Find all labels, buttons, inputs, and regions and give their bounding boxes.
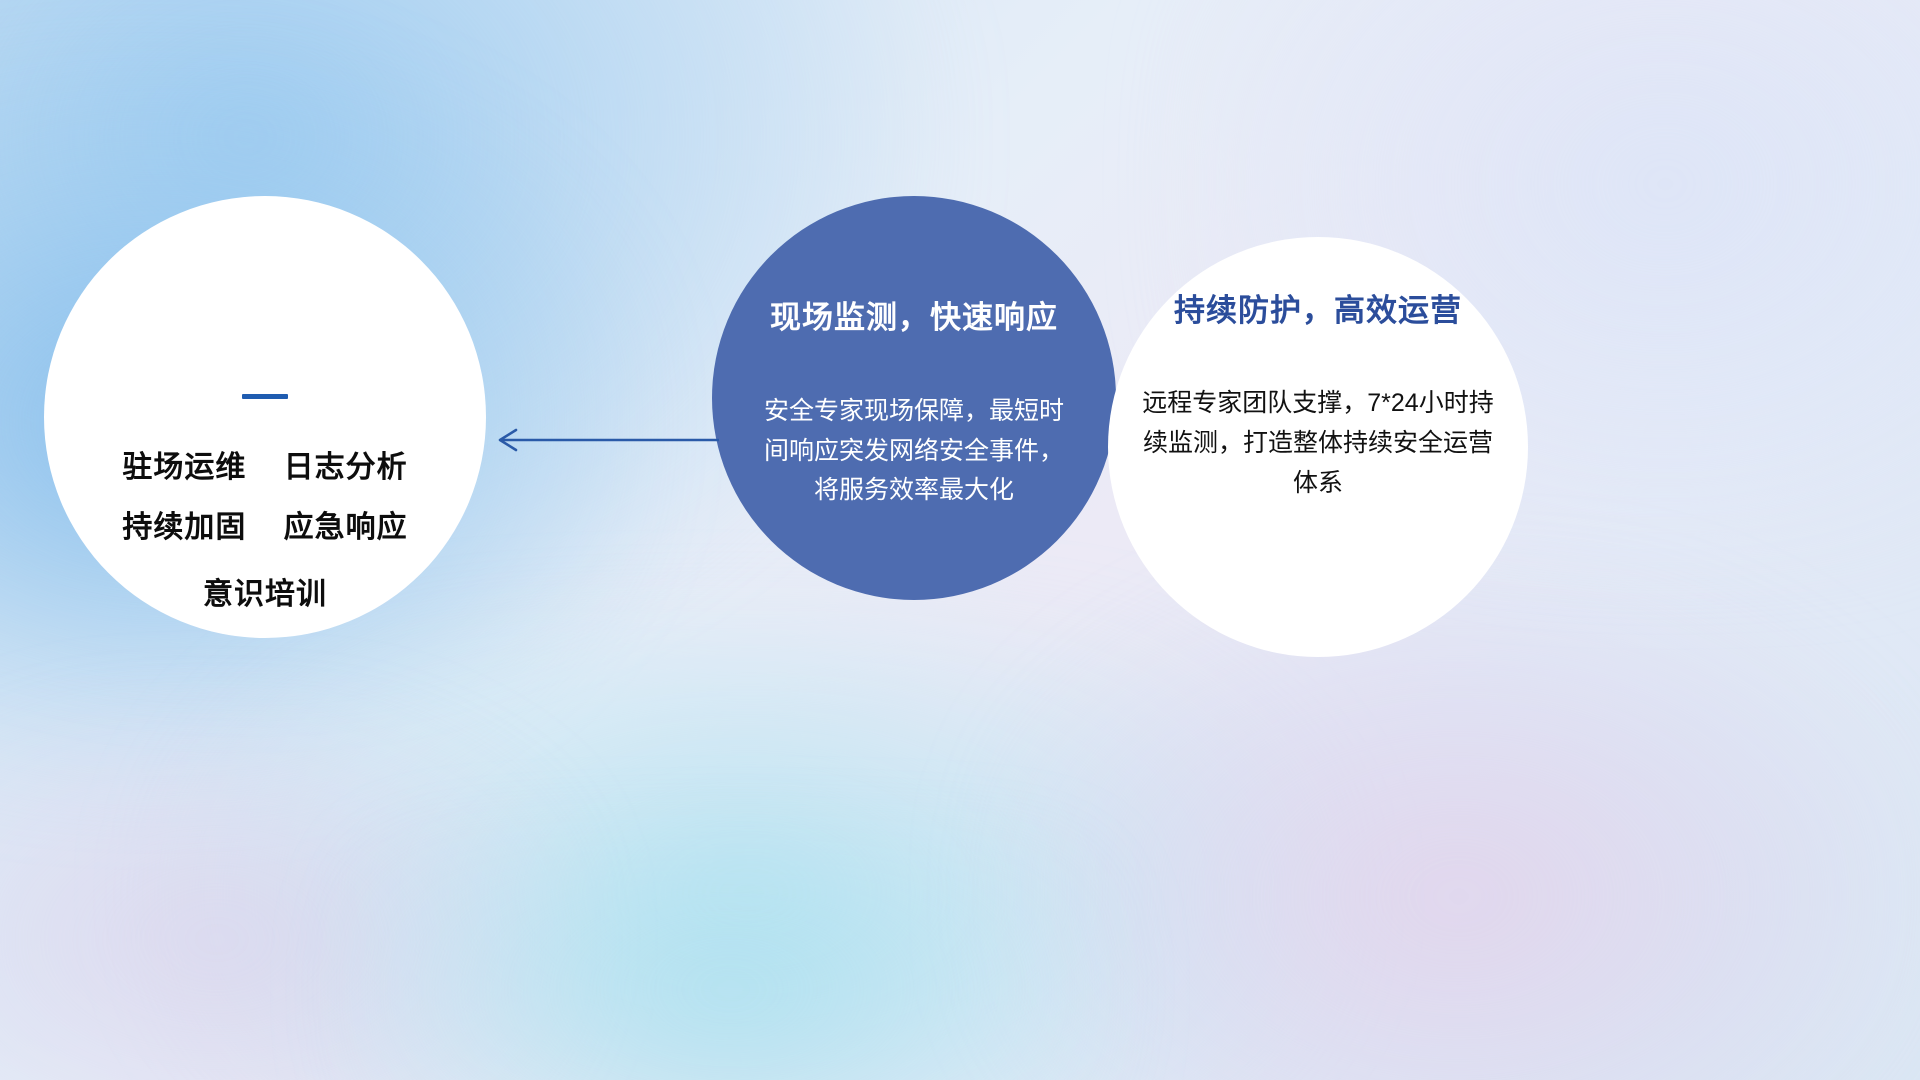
- background-glow-cyan-2: [346, 842, 1114, 1080]
- onsite-monitoring-content: 现场监测，快速响应 安全专家现场保障，最短时间响应突发网络安全事件，将服务效率最…: [690, 292, 1138, 511]
- capability-circle: 驻场运维 日志分析 持续加固 应急响应 意识培训: [44, 196, 486, 638]
- background-glow-lavender-1: [998, 583, 1920, 1080]
- continuous-protection-body: 远程专家团队支撑，7*24小时持续监测，打造整体持续安全运营体系: [1142, 383, 1494, 503]
- leftward-arrow-icon: [490, 424, 720, 456]
- divider-dash-icon: [242, 394, 288, 399]
- onsite-monitoring-title: 现场监测，快速响应: [770, 292, 1058, 337]
- onsite-monitoring-circle: 现场监测，快速响应 安全专家现场保障，最短时间响应突发网络安全事件，将服务效率最…: [712, 196, 1116, 600]
- continuous-protection-content: 持续防护，高效运营 远程专家团队支撑，7*24小时持续监测，打造整体持续安全运营…: [1108, 285, 1528, 503]
- slide-canvas: 驻场运维 日志分析 持续加固 应急响应 意识培训 现场监测，快速响应 安全专家现…: [0, 0, 1920, 1080]
- onsite-monitoring-body: 安全专家现场保障，最短时间响应突发网络安全事件，将服务效率最大化: [764, 392, 1064, 511]
- continuous-protection-title: 持续防护，高效运营: [1174, 285, 1462, 330]
- capability-line-2: 持续加固 应急响应: [122, 509, 407, 547]
- capability-line-1: 驻场运维 日志分析: [122, 449, 407, 487]
- capability-line-3: 意识培训: [203, 576, 327, 614]
- continuous-protection-circle: 持续防护，高效运营 远程专家团队支撑，7*24小时持续监测，打造整体持续安全运营…: [1108, 237, 1528, 657]
- capability-circle-content: 驻场运维 日志分析 持续加固 应急响应 意识培训: [44, 394, 486, 614]
